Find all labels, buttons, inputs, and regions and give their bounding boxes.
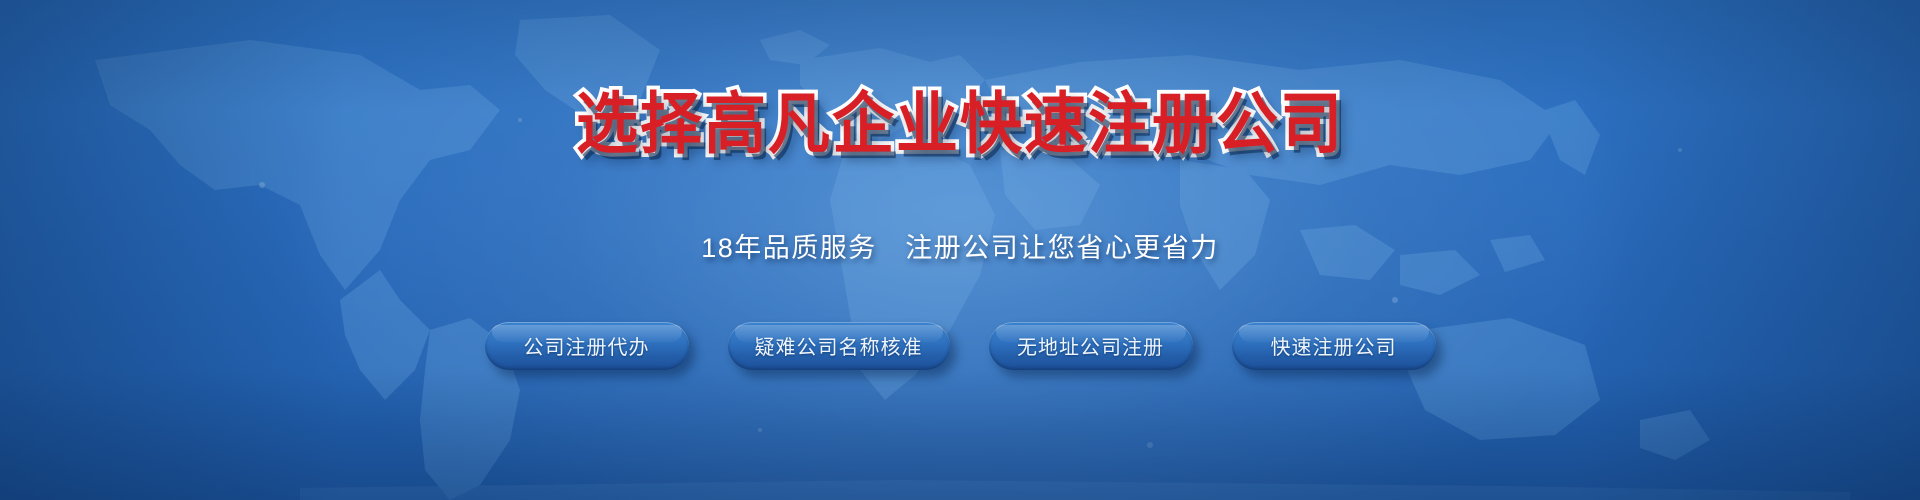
- service-button-row: 公司注册代办 疑难公司名称核准 无地址公司注册 快速注册公司: [485, 322, 1436, 370]
- banner-headline: 选择高凡企业快速注册公司: [576, 92, 1344, 159]
- service-button-label: 疑难公司名称核准: [755, 331, 923, 360]
- service-button-no-address-registration[interactable]: 无地址公司注册: [989, 322, 1193, 370]
- service-button-label: 公司注册代办: [524, 331, 650, 360]
- service-button-fast-registration[interactable]: 快速注册公司: [1232, 322, 1436, 370]
- service-button-label: 快速注册公司: [1271, 331, 1397, 360]
- hero-banner: 选择高凡企业快速注册公司 18年品质服务 注册公司让您省心更省力 公司注册代办 …: [0, 0, 1920, 500]
- banner-content: 选择高凡企业快速注册公司 18年品质服务 注册公司让您省心更省力 公司注册代办 …: [0, 0, 1920, 500]
- service-button-label: 无地址公司注册: [1017, 331, 1164, 360]
- service-button-difficult-name-approval[interactable]: 疑难公司名称核准: [728, 322, 950, 370]
- banner-subtitle: 18年品质服务 注册公司让您省心更省力: [701, 232, 1219, 264]
- service-button-company-registration-agency[interactable]: 公司注册代办: [485, 322, 689, 370]
